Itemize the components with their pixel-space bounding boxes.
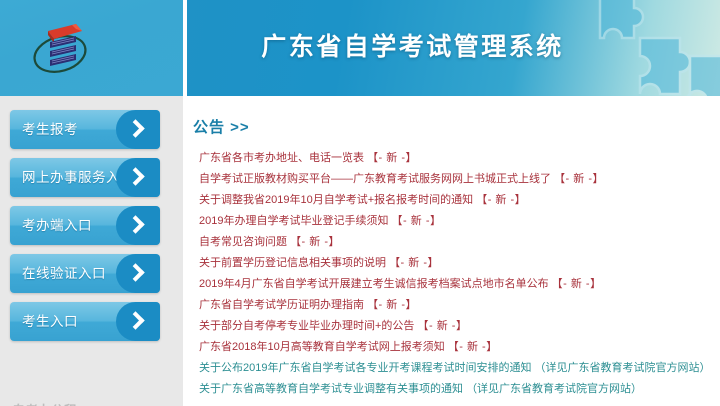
notice-text: 关于部分自考停考专业毕业办理时间+的公告 <box>199 320 414 332</box>
sidebar-item-candidate-entry[interactable]: 考生入口 <box>10 302 160 341</box>
notice-text: 关于调整我省2019年10月自学考试+报名报考时间的通知 <box>199 194 473 206</box>
notice-text: 广东省各市考办地址、电话一览表 <box>199 152 364 164</box>
list-item[interactable]: 自学考试正版教材购买平台——广东教育考试服务网网上书城正式上线了 【- 新 -】 <box>191 169 720 190</box>
notice-text: 关于前置学历登记信息相关事项的说明 <box>199 257 386 269</box>
notice-text: 广东省自学考试学历证明办理指南 <box>199 299 364 311</box>
sidebar-item-online-verification-entry[interactable]: 在线验证入口 <box>10 254 160 293</box>
new-badge: 【- 新 -】 <box>367 299 417 311</box>
chevron-right-icon[interactable] <box>116 158 160 197</box>
sidebar-item-label: 考生入口 <box>22 302 78 341</box>
sidebar-item-label: 考生报考 <box>22 110 78 149</box>
list-item[interactable]: 自考常见咨询问题 【- 新 -】 <box>191 232 720 253</box>
page-title: 广东省自学考试管理系统 <box>183 27 720 63</box>
header-logo-panel <box>0 0 183 96</box>
new-badge: 【- 新 -】 <box>418 320 468 332</box>
new-badge: 【- 新 -】 <box>290 236 340 248</box>
list-item[interactable]: 2019年办理自学考试毕业登记手续须知 【- 新 -】 <box>191 211 720 232</box>
header-divider <box>183 0 187 96</box>
notice-list: 广东省各市考办地址、电话一览表 【- 新 -】 自学考试正版教材购买平台——广东… <box>191 148 720 400</box>
list-item[interactable]: 广东省自学考试学历证明办理指南 【- 新 -】 <box>191 295 720 316</box>
sidebar-item-exam-office-entry[interactable]: 考办端入口 <box>10 206 160 245</box>
list-item[interactable]: 2019年4月广东省自学考试开展建立考生诚信报考档案试点地市名单公布 【- 新 … <box>191 274 720 295</box>
chevron-right-icon[interactable] <box>116 206 160 245</box>
sidebar-item-kaosheng-baokao[interactable]: 考生报考 <box>10 110 160 149</box>
notice-text: 自考常见咨询问题 <box>199 236 287 248</box>
notice-note: （详见广东省教育考试院官方网站） <box>466 383 642 395</box>
sidebar-item-label: 考办端入口 <box>22 206 92 245</box>
list-item[interactable]: 关于调整我省2019年10月自学考试+报名报考时间的通知 【- 新 -】 <box>191 190 720 211</box>
new-badge: 【- 新 -】 <box>389 257 439 269</box>
chevron-right-icon[interactable] <box>116 302 160 341</box>
sidebar-item-online-service-entry[interactable]: 网上办事服务入口 <box>10 158 160 197</box>
guangdong-self-study-exam-logo <box>26 14 94 86</box>
list-item[interactable]: 广东省2018年10月高等教育自学考试网上报考须知 【- 新 -】 <box>191 337 720 358</box>
notice-text: 自学考试正版教材购买平台——广东教育考试服务网网上书城正式上线了 <box>199 173 551 185</box>
notice-text: 关于公布2019年广东省自学考试各专业开考课程考试时间安排的通知 <box>199 362 531 374</box>
new-badge: 【- 新 -】 <box>392 215 442 227</box>
notice-text: 关于广东省高等教育自学考试专业调整有关事项的通知 <box>199 383 463 395</box>
list-item[interactable]: 关于广东省高等教育自学考试专业调整有关事项的通知 （详见广东省教育考试院官方网站… <box>191 379 720 400</box>
notice-text: 2019年办理自学考试毕业登记手续须知 <box>199 215 388 227</box>
notice-section-heading: 公告 >> <box>191 116 720 137</box>
page-body: 考生报考 网上办事服务入口 考办端入口 在线验证入口 考生入口 自考办公租 <box>0 96 720 406</box>
page-header: 广东省自学考试管理系统 <box>0 0 720 96</box>
main-content: 公告 >> 广东省各市考办地址、电话一览表 【- 新 -】 自学考试正版教材购买… <box>183 96 720 406</box>
notice-text: 广东省2018年10月高等教育自学考试网上报考须知 <box>199 341 445 353</box>
notice-note: （详见广东省教育考试院官方网站） <box>535 362 711 374</box>
new-badge: 【- 新 -】 <box>448 341 498 353</box>
list-item[interactable]: 广东省各市考办地址、电话一览表 【- 新 -】 <box>191 148 720 169</box>
new-badge: 【- 新 -】 <box>476 194 526 206</box>
new-badge: 【- 新 -】 <box>554 173 604 185</box>
notice-text: 2019年4月广东省自学考试开展建立考生诚信报考档案试点地市名单公布 <box>199 278 549 290</box>
chevron-right-icon[interactable] <box>116 110 160 149</box>
sidebar: 考生报考 网上办事服务入口 考办端入口 在线验证入口 考生入口 自考办公租 <box>0 96 183 406</box>
list-item[interactable]: 关于部分自考停考专业毕业办理时间+的公告 【- 新 -】 <box>191 316 720 337</box>
sidebar-item-label: 在线验证入口 <box>22 254 106 293</box>
header-title-panel: 广东省自学考试管理系统 <box>183 0 720 96</box>
list-item[interactable]: 关于前置学历登记信息相关事项的说明 【- 新 -】 <box>191 253 720 274</box>
list-item[interactable]: 关于公布2019年广东省自学考试各专业开考课程考试时间安排的通知 （详见广东省教… <box>191 358 720 379</box>
sidebar-footnote: 自考办公租 <box>12 400 77 406</box>
page-root: 广东省自学考试管理系统 考生报考 网上办事服务入口 考办端入口 在线验证入口 <box>0 0 720 406</box>
new-badge: 【- 新 -】 <box>552 278 602 290</box>
chevron-right-icon[interactable] <box>116 254 160 293</box>
new-badge: 【- 新 -】 <box>367 152 417 164</box>
